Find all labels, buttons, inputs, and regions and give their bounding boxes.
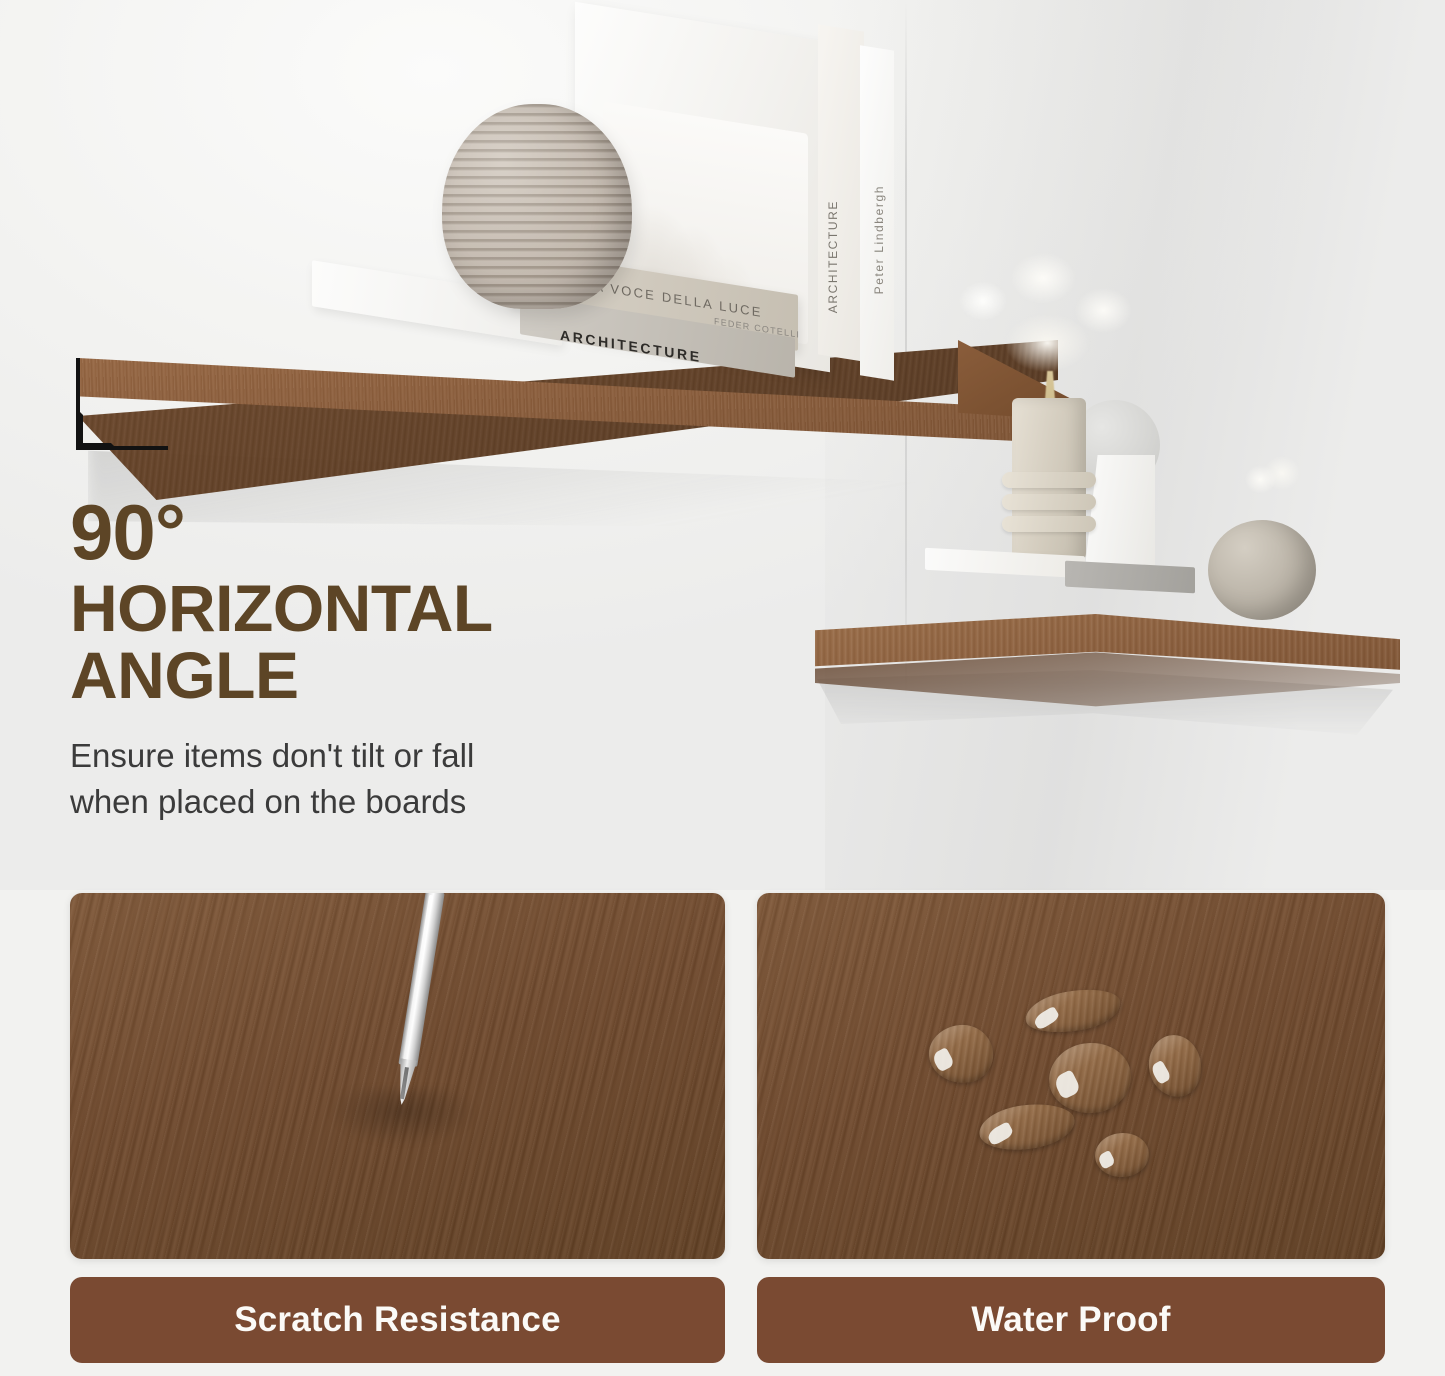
- water-proof-photo: [757, 893, 1385, 1259]
- vase-ring-2: [1002, 494, 1096, 510]
- water-droplet: [977, 1099, 1078, 1154]
- vase-ring-3: [1002, 516, 1096, 532]
- walnut-floating-shelf-bottom: [815, 600, 1405, 740]
- right-angle-indicator: [76, 358, 176, 450]
- product-feature-image: ARCHITECTURE Peter Lindbergh LA VOCE DEL…: [0, 0, 1445, 1376]
- scratch-caption-bar: Scratch Resistance: [70, 1277, 725, 1363]
- degree-value: 90°: [70, 495, 730, 569]
- water-droplet: [926, 1022, 996, 1086]
- book-spine-label-architecture-vertical: ARCHITECTURE: [826, 200, 840, 313]
- book-spine-label-lindbergh: Peter Lindbergh: [872, 185, 886, 294]
- water-droplet: [1047, 1040, 1134, 1116]
- water-droplet: [1093, 1131, 1151, 1180]
- waterproof-caption-bar: Water Proof: [757, 1277, 1385, 1363]
- feature-cards: Scratch Resistance Water Proof: [0, 893, 1445, 1376]
- screwdriver-shaft: [398, 893, 444, 1067]
- waterproof-caption-label: Water Proof: [971, 1300, 1170, 1340]
- subtitle-line-2: when placed on the boards: [70, 780, 730, 825]
- water-droplet: [1145, 1032, 1205, 1101]
- headline-block: 90° HORIZONTAL ANGLE Ensure items don't …: [70, 495, 730, 825]
- subtitle-line-1: Ensure items don't tilt or fall: [70, 734, 730, 779]
- dried-flowers: [940, 225, 1155, 415]
- headline-line-2: ANGLE: [70, 642, 730, 709]
- angle-horizontal-line: [76, 446, 168, 450]
- headline-line-1: HORIZONTAL: [70, 575, 730, 642]
- scratch-caption-label: Scratch Resistance: [234, 1300, 561, 1340]
- stepped-ceramic-vase: [1012, 398, 1086, 563]
- feature-card-scratch: Scratch Resistance: [70, 893, 725, 1363]
- angle-arc-icon: [80, 412, 114, 446]
- vase-ring-1: [1002, 472, 1096, 488]
- water-droplet: [1022, 984, 1123, 1039]
- scratch-resistance-photo: [70, 893, 725, 1259]
- feature-card-waterproof: Water Proof: [757, 893, 1385, 1363]
- ribbed-ceramic-vase: [442, 104, 632, 309]
- sphere-stone-vase: [1208, 520, 1316, 620]
- sphere-vase-twigs: [1228, 438, 1318, 530]
- screwdriver-icon: [387, 893, 450, 1107]
- white-book-spine-architecture: [818, 24, 864, 361]
- hero-photo: ARCHITECTURE Peter Lindbergh LA VOCE DEL…: [0, 0, 1445, 890]
